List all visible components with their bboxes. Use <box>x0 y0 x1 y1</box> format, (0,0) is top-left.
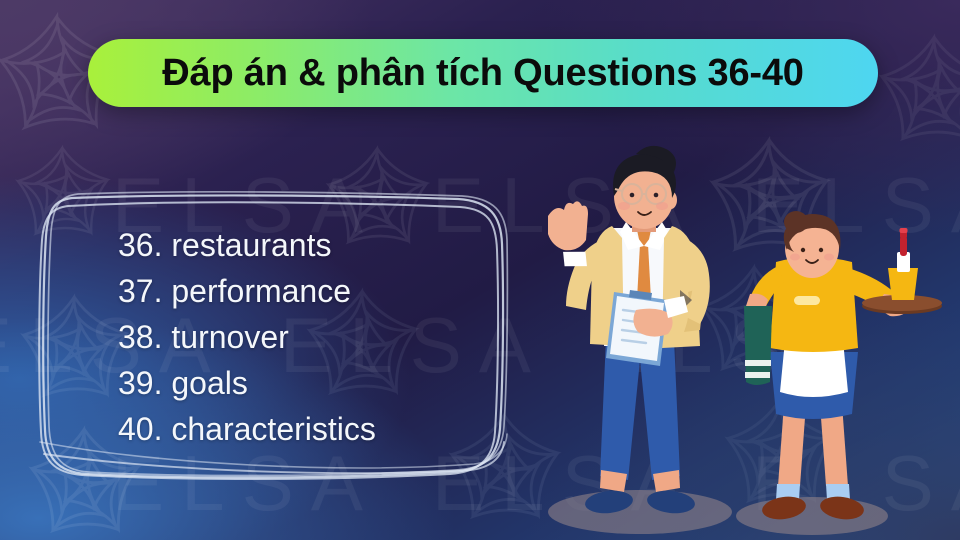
elsa-watermark: ELSA <box>600 300 868 391</box>
tie-knot <box>637 230 651 244</box>
shirt <box>604 228 680 346</box>
list-item: 37. performance <box>118 268 518 314</box>
cuff-left <box>561 248 590 270</box>
clipboard <box>606 290 668 366</box>
bottle-cap <box>900 228 908 233</box>
answers-list: 36. restaurants 37. performance 38. turn… <box>118 222 518 452</box>
title-banner: Đáp án & phân tích Questions 36-40 <box>88 39 878 107</box>
pants <box>600 338 680 480</box>
hair-bun <box>784 211 808 233</box>
manager-head <box>614 163 674 229</box>
jacket-left <box>590 226 624 346</box>
manager-hair <box>613 153 676 198</box>
arm-right <box>668 234 710 324</box>
waitress-hair <box>786 214 841 250</box>
bottle-label <box>897 252 910 272</box>
name-tag <box>794 296 820 305</box>
shoe-right <box>646 489 696 516</box>
green-towel <box>744 306 772 385</box>
arm-left-raised <box>566 236 618 310</box>
hand-on-clipboard <box>633 309 672 337</box>
raised-hand <box>548 201 588 250</box>
waitress-head <box>785 218 839 278</box>
serving-tray <box>862 298 942 314</box>
list-item: 38. turnover <box>118 314 518 360</box>
shadow-ellipse-woman <box>736 497 888 535</box>
elsa-star-motif-icon <box>690 258 820 388</box>
shadow-ellipse-man <box>548 490 732 534</box>
elsa-star-motif-icon <box>716 390 846 520</box>
page-title: Đáp án & phân tích Questions 36-40 <box>162 54 803 92</box>
list-item: 40. characteristics <box>118 406 518 452</box>
shoe-left <box>584 489 634 516</box>
elsa-star-motif-icon <box>700 130 840 270</box>
character-manager <box>548 146 710 516</box>
cuff-right <box>664 296 688 318</box>
elsa-star-motif-icon <box>870 28 960 158</box>
character-waitress <box>744 211 942 522</box>
glasses-icon <box>615 184 666 204</box>
list-item: 39. goals <box>118 360 518 406</box>
elsa-watermark: ELSA <box>752 160 960 251</box>
tie <box>636 244 652 330</box>
drink-glass <box>888 268 918 300</box>
hand-holding-tray <box>880 294 912 316</box>
elsa-watermark: ELSA <box>752 438 960 529</box>
bottle-body <box>900 236 907 256</box>
jacket-right <box>662 226 700 348</box>
slide-canvas: ELSA ELSA ELSA ELSA ELSA ELSA ELSA ELSA … <box>0 0 960 540</box>
list-item: 36. restaurants <box>118 222 518 268</box>
